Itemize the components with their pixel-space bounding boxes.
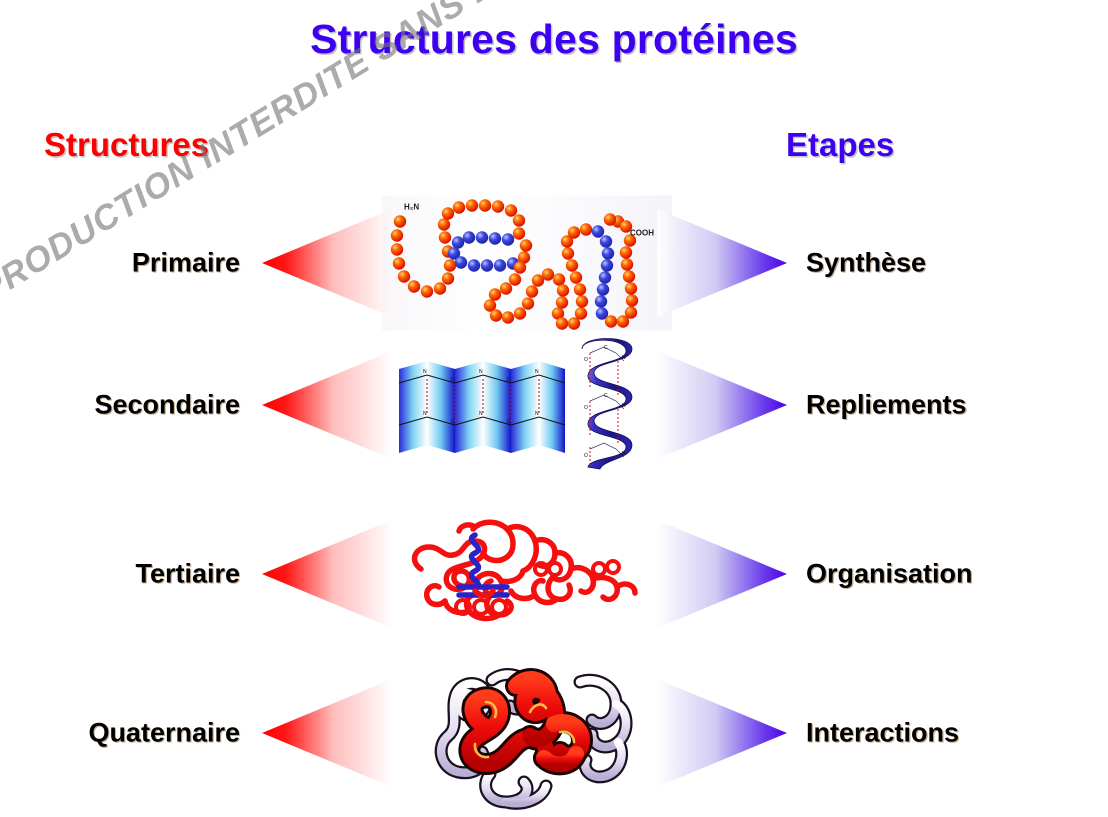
svg-text:N: N (535, 411, 539, 417)
arrow-left-quaternaire (262, 679, 392, 787)
svg-text:N: N (479, 411, 483, 417)
svg-text:H: H (622, 451, 626, 457)
step-label-organisation: Organisation (806, 559, 1106, 590)
svg-text:C: C (507, 419, 511, 425)
arrow-right-tertiaire (657, 520, 787, 628)
arrow-left-primaire (262, 209, 392, 317)
figure-label-c-terminus: COOH (630, 229, 654, 238)
svg-text:C: C (604, 345, 608, 351)
page-title: Structures des protéines (0, 16, 1108, 63)
svg-text:O: O (584, 453, 588, 459)
figure-quaternary-structure (430, 652, 650, 812)
svg-text:N: N (535, 369, 539, 375)
structure-label-primaire: Primaire (0, 248, 240, 279)
figure-beta-sheet: NC NC N NC NC N (395, 353, 571, 457)
svg-text:O: O (584, 357, 588, 363)
arrow-right-secondaire (657, 351, 787, 459)
step-label-repliements: Repliements (806, 390, 1106, 421)
step-label-synthese: Synthèse (806, 248, 1106, 279)
step-label-interactions: Interactions (806, 718, 1106, 749)
column-header-etapes: Etapes (786, 126, 894, 164)
figure-label-n-terminus: H₂N (404, 203, 419, 212)
arrow-left-secondaire (262, 351, 392, 459)
structure-label-secondaire: Secondaire (0, 390, 240, 421)
figure-alpha-helix: ON OH OH CC (560, 331, 652, 471)
svg-text:C: C (451, 419, 455, 425)
svg-text:C: C (604, 393, 608, 399)
svg-text:N: N (479, 369, 483, 375)
svg-text:N: N (622, 355, 626, 361)
figure-tertiary-structure (403, 507, 653, 637)
svg-text:C: C (451, 377, 455, 383)
arrow-right-primaire (657, 209, 787, 317)
svg-text:O: O (584, 405, 588, 411)
slide-canvas: Structures des protéines Structures Etap… (0, 0, 1108, 817)
structure-label-tertiaire: Tertiaire (0, 559, 240, 590)
svg-text:H: H (622, 403, 626, 409)
figure-primary-structure: H₂N COOH (382, 196, 672, 331)
svg-text:N: N (423, 369, 427, 375)
svg-text:N: N (423, 411, 427, 417)
column-header-structures: Structures (44, 126, 209, 164)
svg-text:C: C (507, 377, 511, 383)
arrow-right-quaternaire (657, 679, 787, 787)
structure-label-quaternaire: Quaternaire (0, 718, 240, 749)
arrow-left-tertiaire (262, 520, 392, 628)
